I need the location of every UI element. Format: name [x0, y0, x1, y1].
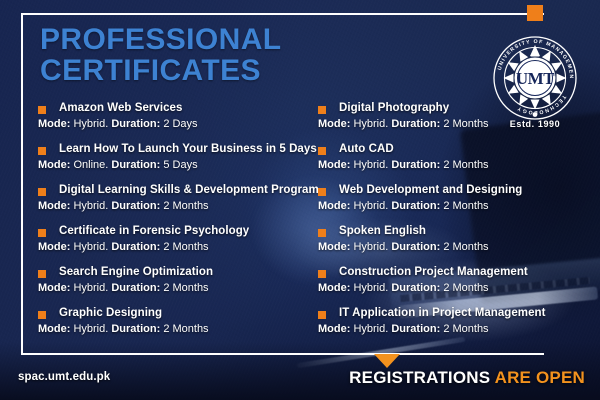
course-name: Search Engine Optimization: [59, 265, 313, 279]
course-meta: Mode: Hybrid. Duration: 2 Months: [318, 240, 568, 254]
mode-label: Mode:: [318, 200, 350, 212]
duration-label: Duration:: [111, 200, 160, 212]
certificates-poster: PROFESSIONAL CERTIFICATES Amazon Web Ser…: [0, 0, 600, 400]
list-item: Auto CAD Mode: Hybrid. Duration: 2 Month…: [318, 142, 568, 172]
course-meta: Mode: Hybrid. Duration: 2 Months: [318, 322, 568, 336]
duration-label: Duration:: [111, 118, 160, 130]
mode-label: Mode:: [38, 159, 70, 171]
bullet-square-icon: [38, 311, 46, 319]
course-list-left: Amazon Web Services Mode: Hybrid. Durati…: [38, 101, 313, 347]
bullet-square-icon: [318, 311, 326, 319]
duration-label: Duration:: [391, 118, 440, 130]
course-meta: Mode: Hybrid. Duration: 2 Months: [38, 199, 313, 213]
duration-label: Duration:: [391, 200, 440, 212]
duration-value: 2 Months: [443, 118, 488, 130]
course-meta: Mode: Hybrid. Duration: 2 Months: [38, 240, 313, 254]
title-line-2: CERTIFICATES: [40, 55, 370, 86]
mode-value: Hybrid.: [73, 118, 108, 130]
mode-label: Mode:: [318, 159, 350, 171]
down-arrow-icon: [374, 354, 400, 368]
mode-value: Hybrid.: [73, 200, 108, 212]
course-meta: Mode: Hybrid. Duration: 2 Months: [318, 281, 568, 295]
list-item: IT Application in Project Management Mod…: [318, 306, 568, 336]
logo-established-text: Estd. 1990: [489, 119, 581, 129]
mode-value: Hybrid.: [73, 323, 108, 335]
course-meta: Mode: Hybrid. Duration: 2 Months: [38, 281, 313, 295]
bullet-square-icon: [318, 188, 326, 196]
registration-cta: REGISTRATIONS ARE OPEN: [349, 368, 585, 388]
course-meta: Mode: Hybrid. Duration: 2 Days: [38, 117, 313, 131]
course-meta: Mode: Hybrid. Duration: 2 Months: [318, 158, 568, 172]
duration-label: Duration:: [391, 159, 440, 171]
bullet-square-icon: [38, 270, 46, 278]
umt-logo-icon: UMT UNIVERSITY OF MANAGEMENT AND TECHNOL…: [489, 32, 581, 124]
course-meta: Mode: Hybrid. Duration: 2 Months: [318, 199, 568, 213]
svg-text:UMT: UMT: [516, 69, 555, 88]
duration-label: Duration:: [111, 159, 160, 171]
website-url[interactable]: spac.umt.edu.pk: [18, 371, 110, 383]
course-name: Learn How To Launch Your Business in 5 D…: [59, 142, 313, 156]
mode-label: Mode:: [38, 118, 70, 130]
list-item: Digital Learning Skills & Development Pr…: [38, 183, 313, 213]
frame-bottom-line: [21, 353, 544, 355]
cta-primary-text: REGISTRATIONS: [349, 368, 490, 387]
mode-value: Hybrid.: [353, 118, 388, 130]
duration-label: Duration:: [111, 323, 160, 335]
mode-label: Mode:: [318, 282, 350, 294]
mode-value: Hybrid.: [353, 200, 388, 212]
duration-value: 2 Months: [443, 200, 488, 212]
course-meta: Mode: Hybrid. Duration: 2 Months: [38, 322, 313, 336]
list-item: Graphic Designing Mode: Hybrid. Duration…: [38, 306, 313, 336]
cta-accent-text: ARE OPEN: [495, 368, 585, 387]
mode-value: Hybrid.: [353, 241, 388, 253]
course-name: Graphic Designing: [59, 306, 313, 320]
mode-label: Mode:: [38, 241, 70, 253]
duration-value: 5 Days: [163, 159, 197, 171]
mode-value: Hybrid.: [353, 282, 388, 294]
course-name: IT Application in Project Management: [339, 306, 568, 320]
mode-label: Mode:: [318, 241, 350, 253]
duration-value: 2 Months: [163, 323, 208, 335]
duration-value: 2 Months: [443, 159, 488, 171]
course-list-right: Digital Photography Mode: Hybrid. Durati…: [318, 101, 568, 347]
list-item: Web Development and Designing Mode: Hybr…: [318, 183, 568, 213]
course-name: Certificate in Forensic Psychology: [59, 224, 313, 238]
duration-value: 2 Months: [443, 323, 488, 335]
mode-label: Mode:: [38, 200, 70, 212]
course-name: Digital Learning Skills & Development Pr…: [59, 183, 313, 197]
list-item: Learn How To Launch Your Business in 5 D…: [38, 142, 313, 172]
mode-value: Online.: [73, 159, 108, 171]
course-name: Auto CAD: [339, 142, 568, 156]
duration-value: 2 Months: [163, 282, 208, 294]
mode-label: Mode:: [318, 323, 350, 335]
bullet-square-icon: [38, 188, 46, 196]
bullet-square-icon: [318, 147, 326, 155]
duration-label: Duration:: [391, 323, 440, 335]
duration-value: 2 Months: [163, 200, 208, 212]
list-item: Construction Project Management Mode: Hy…: [318, 265, 568, 295]
duration-label: Duration:: [391, 241, 440, 253]
mode-label: Mode:: [318, 118, 350, 130]
bullet-square-icon: [38, 106, 46, 114]
mode-value: Hybrid.: [353, 323, 388, 335]
duration-value: 2 Months: [443, 282, 488, 294]
list-item: Search Engine Optimization Mode: Hybrid.…: [38, 265, 313, 295]
duration-label: Duration:: [391, 282, 440, 294]
mode-label: Mode:: [38, 323, 70, 335]
course-meta: Mode: Online. Duration: 5 Days: [38, 158, 313, 172]
list-item: Spoken English Mode: Hybrid. Duration: 2…: [318, 224, 568, 254]
bullet-square-icon: [318, 229, 326, 237]
course-name: Construction Project Management: [339, 265, 568, 279]
course-name: Web Development and Designing: [339, 183, 568, 197]
page-title: PROFESSIONAL CERTIFICATES: [40, 24, 370, 86]
duration-value: 2 Months: [443, 241, 488, 253]
course-name: Amazon Web Services: [59, 101, 313, 115]
bullet-square-icon: [38, 229, 46, 237]
mode-value: Hybrid.: [73, 241, 108, 253]
mode-value: Hybrid.: [353, 159, 388, 171]
duration-label: Duration:: [111, 241, 160, 253]
course-name: Spoken English: [339, 224, 568, 238]
mode-label: Mode:: [38, 282, 70, 294]
bullet-square-icon: [318, 270, 326, 278]
duration-label: Duration:: [111, 282, 160, 294]
bullet-square-icon: [318, 106, 326, 114]
bullet-square-icon: [38, 147, 46, 155]
corner-square-accent: [527, 5, 543, 21]
duration-value: 2 Days: [163, 118, 197, 130]
mode-value: Hybrid.: [73, 282, 108, 294]
list-item: Certificate in Forensic Psychology Mode:…: [38, 224, 313, 254]
title-line-1: PROFESSIONAL: [40, 23, 282, 56]
duration-value: 2 Months: [163, 241, 208, 253]
list-item: Amazon Web Services Mode: Hybrid. Durati…: [38, 101, 313, 131]
